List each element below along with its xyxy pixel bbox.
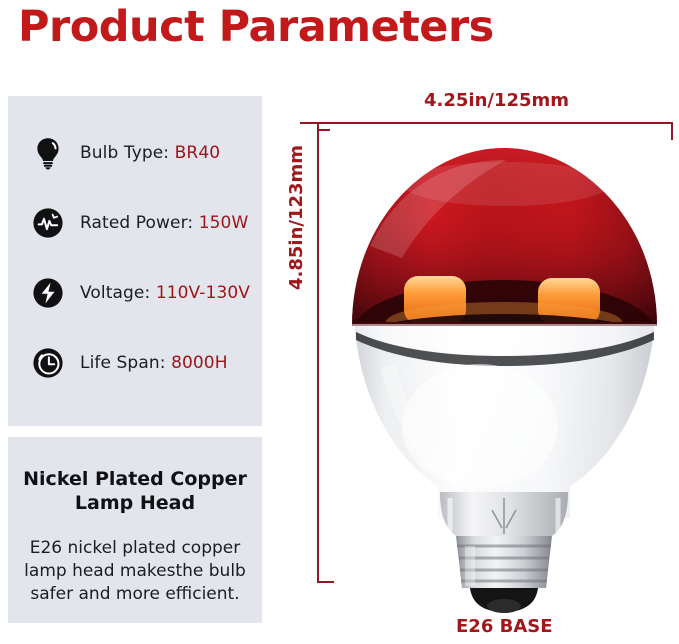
spec-label-life-span: Life Span: 8000H — [80, 353, 228, 373]
spec-row-voltage: Voltage: 110V-130V — [8, 258, 262, 328]
info-panel: Nickel Plated Copper Lamp Head E26 nicke… — [8, 437, 262, 623]
spec-row-life-span: Life Span: 8000H — [8, 328, 262, 398]
spec-value-text: 8000H — [171, 353, 228, 373]
dimension-label-base: E26 BASE — [456, 616, 553, 637]
spec-label-text: Voltage: — [80, 283, 156, 303]
product-image-bulb — [330, 126, 679, 616]
spec-label-text: Rated Power: — [80, 213, 199, 233]
spec-value-text: 150W — [199, 213, 249, 233]
page-title: Product Parameters — [18, 2, 494, 52]
lightning-icon — [30, 275, 66, 311]
spec-label-bulb-type: Bulb Type: BR40 — [80, 143, 220, 163]
dimension-label-height: 4.85in/123mm — [286, 145, 307, 290]
clock-icon — [30, 345, 66, 381]
info-panel-heading: Nickel Plated Copper Lamp Head — [22, 467, 248, 516]
spec-value-text: 110V-130V — [156, 283, 250, 303]
spec-value-text: BR40 — [175, 143, 221, 163]
dimension-label-width: 4.25in/125mm — [424, 90, 569, 111]
info-panel-body: E26 nickel plated copper lamp head makes… — [22, 537, 248, 605]
dimension-step-top-left — [300, 123, 330, 130]
spec-label-rated-power: Rated Power: 150W — [80, 213, 248, 233]
pulse-icon — [30, 205, 66, 241]
spec-row-bulb-type: Bulb Type: BR40 — [8, 118, 262, 188]
spec-label-voltage: Voltage: 110V-130V — [80, 283, 250, 303]
spec-label-text: Bulb Type: — [80, 143, 175, 163]
bulb-icon — [30, 135, 66, 171]
spec-row-rated-power: Rated Power: 150W — [8, 188, 262, 258]
spec-panel: Bulb Type: BR40 Rated Power: 150W Voltag… — [8, 96, 262, 426]
spec-label-text: Life Span: — [80, 353, 171, 373]
